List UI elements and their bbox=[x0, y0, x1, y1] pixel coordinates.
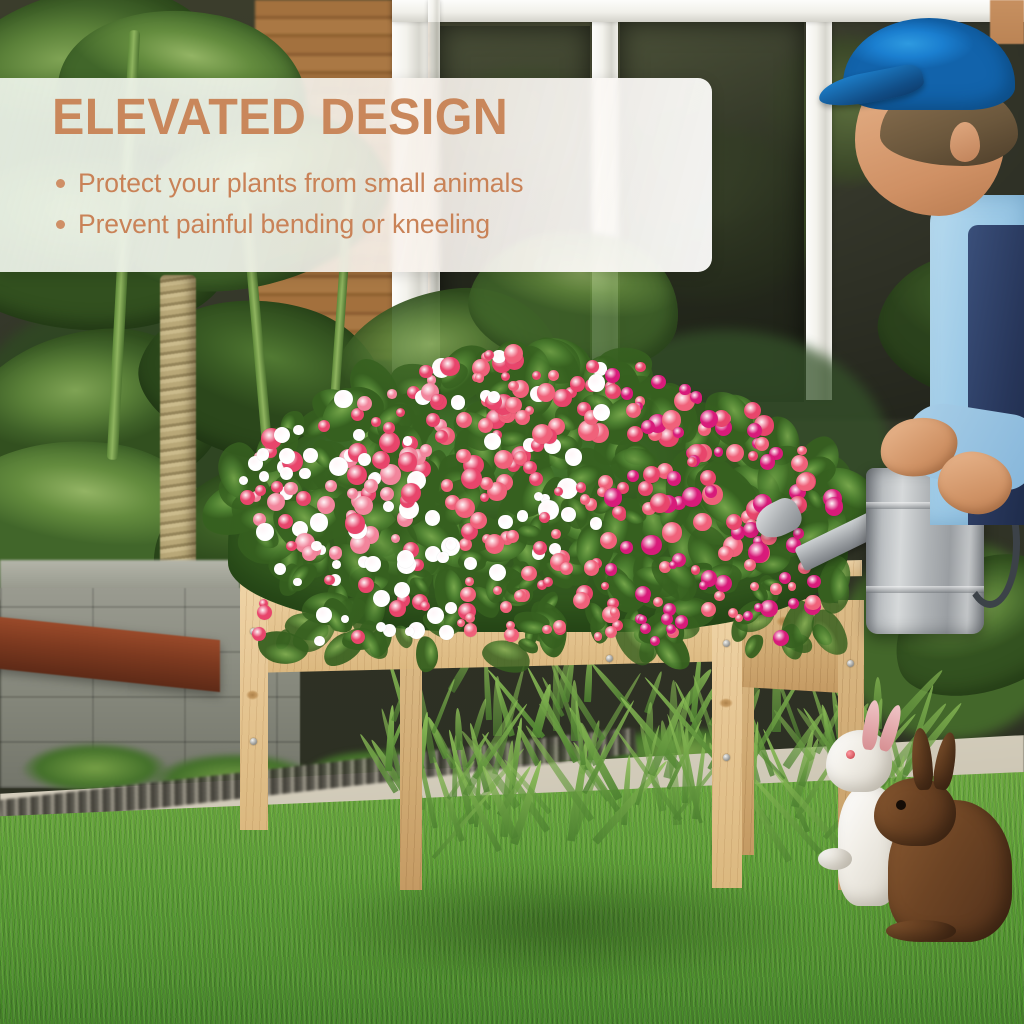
brown-rabbit-paw bbox=[886, 920, 956, 942]
list-item: Protect your plants from small animals bbox=[56, 168, 523, 199]
product-marketing-image: ELEVATED DESIGN Protect your plants from… bbox=[0, 0, 1024, 1024]
person-ear bbox=[950, 122, 980, 162]
bullet-text: Prevent painful bending or kneeling bbox=[78, 209, 490, 240]
background-patch bbox=[990, 0, 1024, 44]
page-title: ELEVATED DESIGN bbox=[52, 88, 508, 145]
list-item: Prevent painful bending or kneeling bbox=[56, 209, 523, 240]
bullet-dot-icon bbox=[56, 220, 65, 229]
brown-rabbit-eye bbox=[896, 800, 906, 810]
white-rabbit-eye bbox=[846, 750, 855, 759]
bullet-text: Protect your plants from small animals bbox=[78, 168, 523, 199]
white-rabbit-paw bbox=[818, 848, 852, 870]
bullet-dot-icon bbox=[56, 179, 65, 188]
feature-bullet-list: Protect your plants from small animals P… bbox=[56, 168, 523, 250]
